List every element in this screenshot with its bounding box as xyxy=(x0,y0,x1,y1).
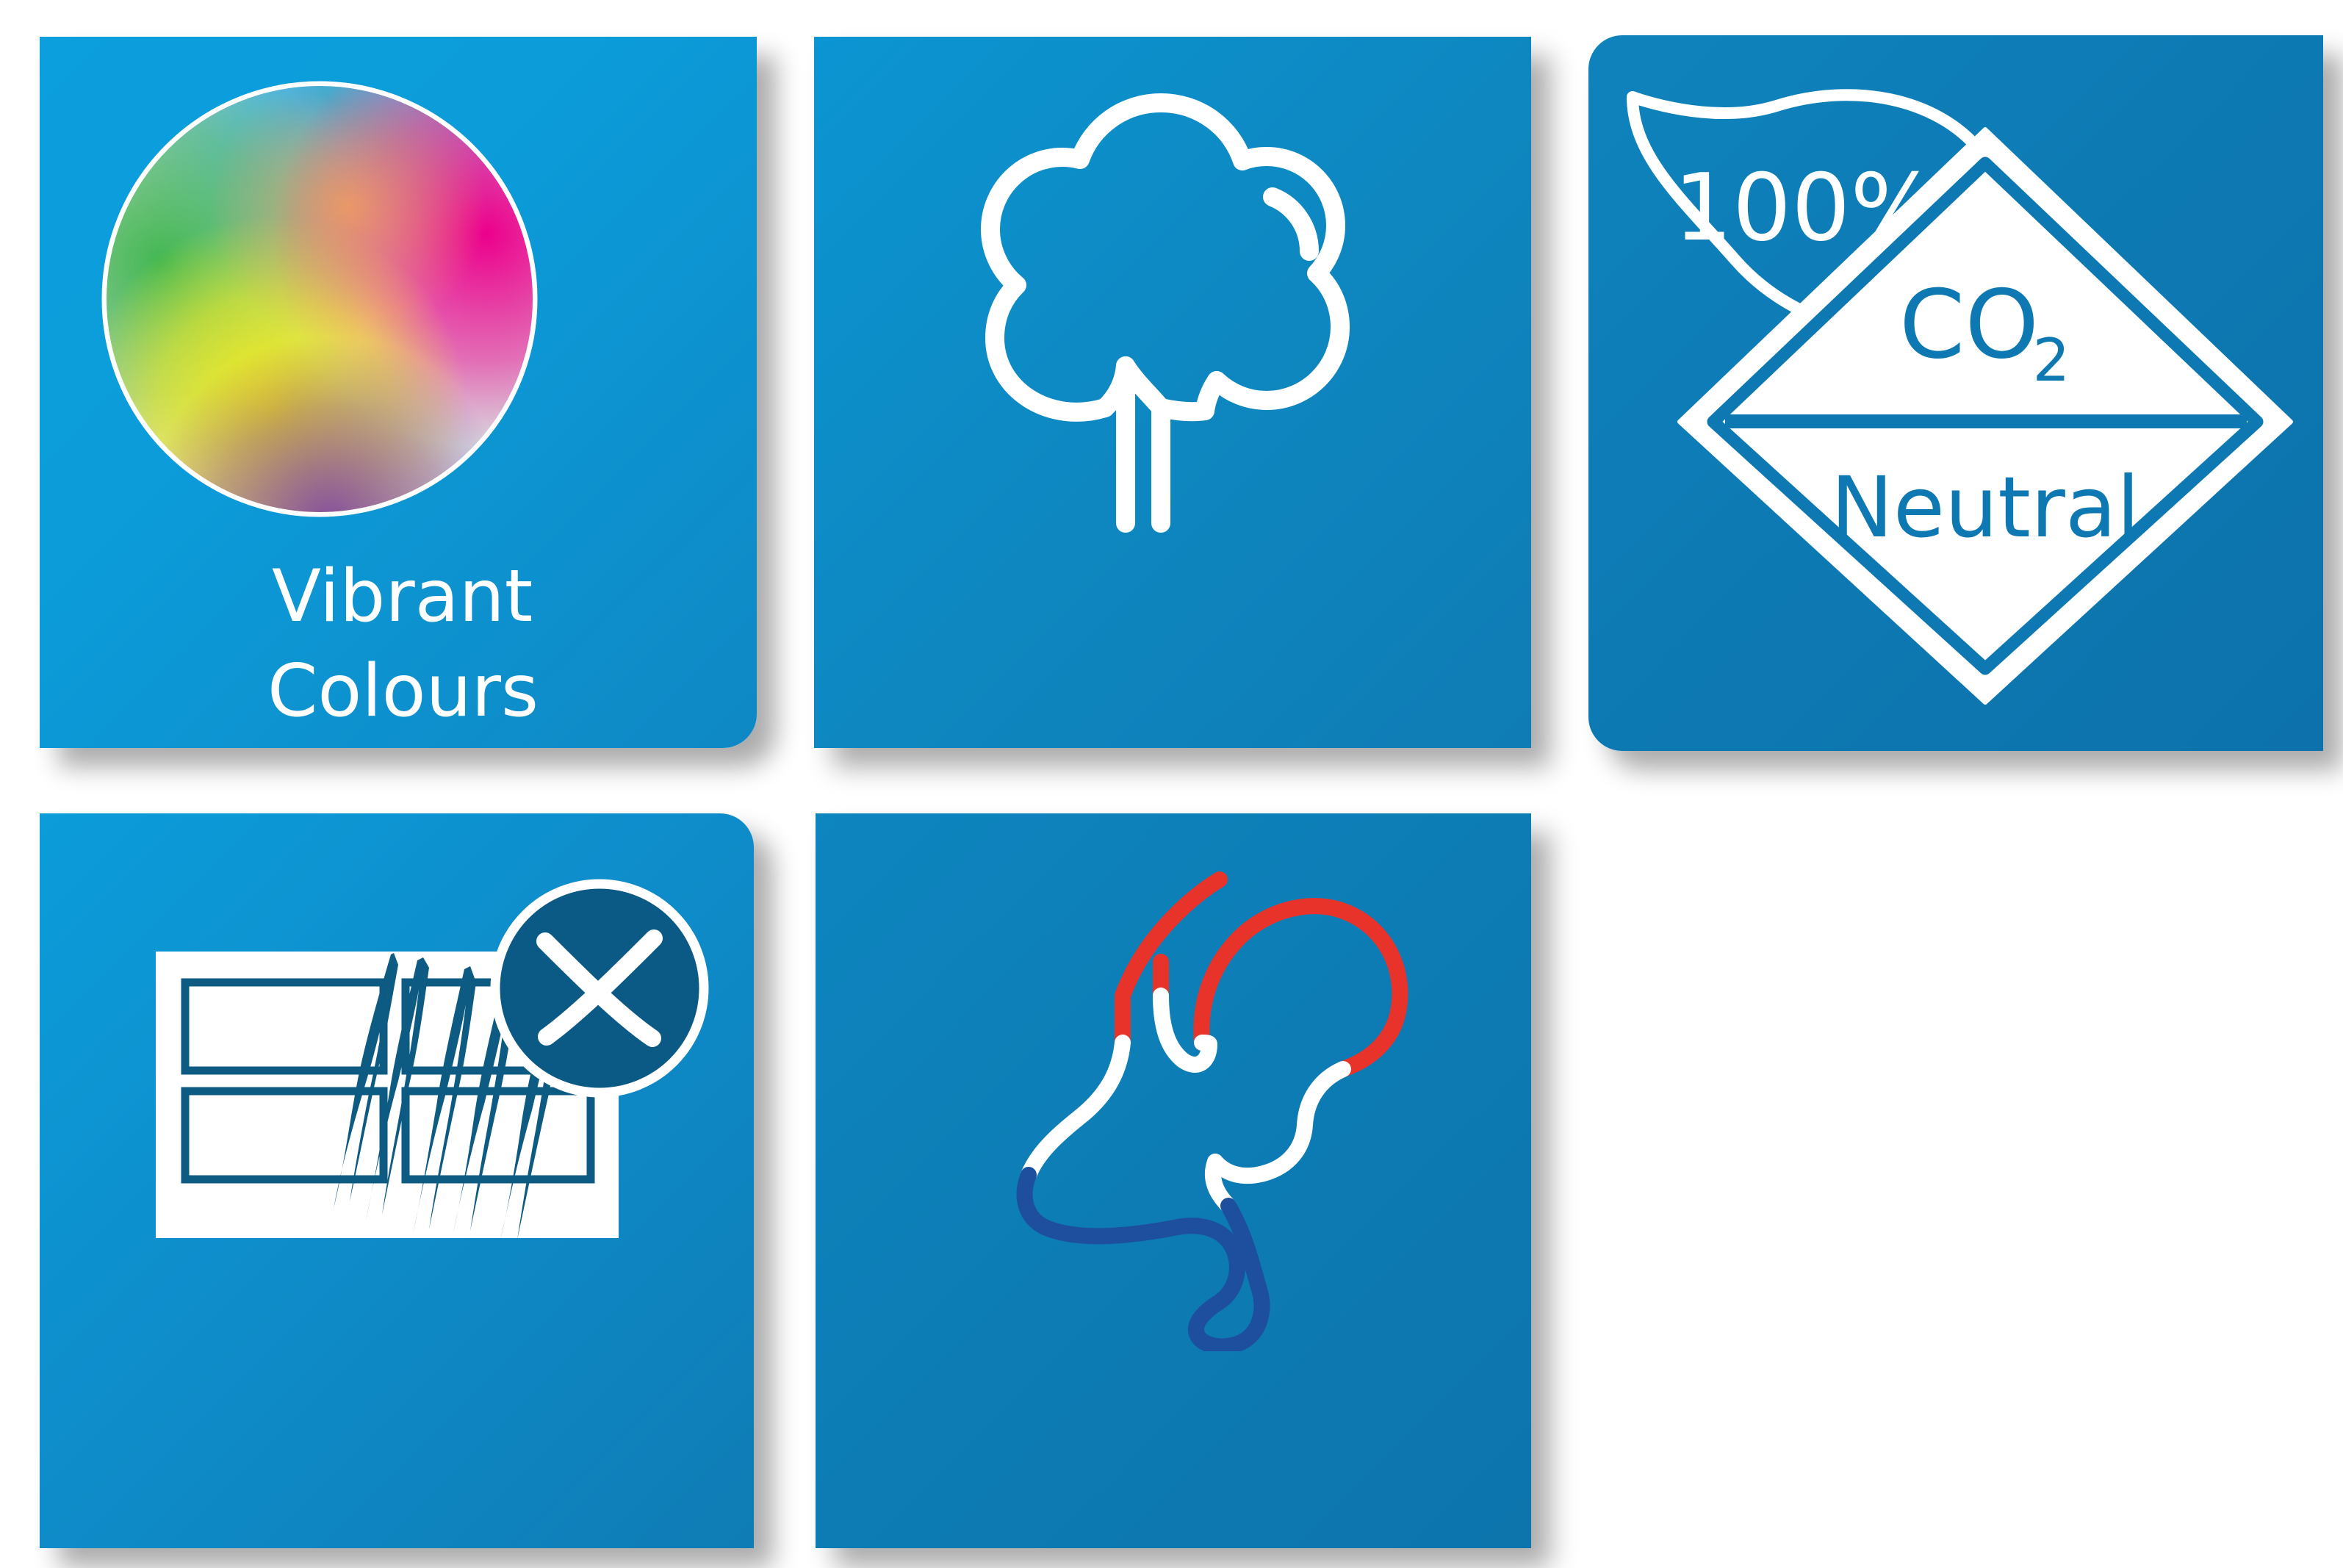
neutral-label: Neutral xyxy=(1831,458,2140,556)
tile-co2-neutral[interactable]: 100% CO 2 Neutral xyxy=(1588,35,2323,751)
colour-sphere-icon xyxy=(88,68,551,531)
netherlands-outline-icon xyxy=(940,852,1425,1351)
caption-line-2: Colours xyxy=(267,655,539,729)
badge-board: Vibrant Colours Responsible xyxy=(0,0,2343,1568)
co2-label: CO xyxy=(1899,270,2039,380)
tile-responsible-forestry[interactable]: Responsible Forestry xyxy=(814,37,1531,748)
tile-scratch-resistant-print[interactable]: Scratch Resistant Print xyxy=(40,813,754,1548)
tile-vibrant-colours[interactable]: Vibrant Colours xyxy=(40,37,757,748)
tree-outline-icon xyxy=(924,73,1380,544)
tile-scratch-content: Scratch Resistant Print xyxy=(40,813,754,1548)
tile-dutch-content: Dutch-made Premium quality xyxy=(816,813,1531,1548)
tile-co2-content: 100% CO 2 Neutral xyxy=(1588,35,2323,751)
tile-vibrant-caption: Vibrant Colours xyxy=(267,560,539,729)
tile-dutch-made[interactable]: Dutch-made Premium quality xyxy=(816,813,1531,1548)
co2-subscript: 2 xyxy=(2033,326,2070,395)
tile-vibrant-content: Vibrant Colours xyxy=(40,37,757,748)
caption-line-1: Vibrant xyxy=(267,560,539,634)
cross-circle-icon xyxy=(489,878,710,1098)
tile-forestry-content: Responsible Forestry xyxy=(814,37,1531,748)
co2-diamond-icon: CO 2 Neutral xyxy=(1662,115,2308,717)
